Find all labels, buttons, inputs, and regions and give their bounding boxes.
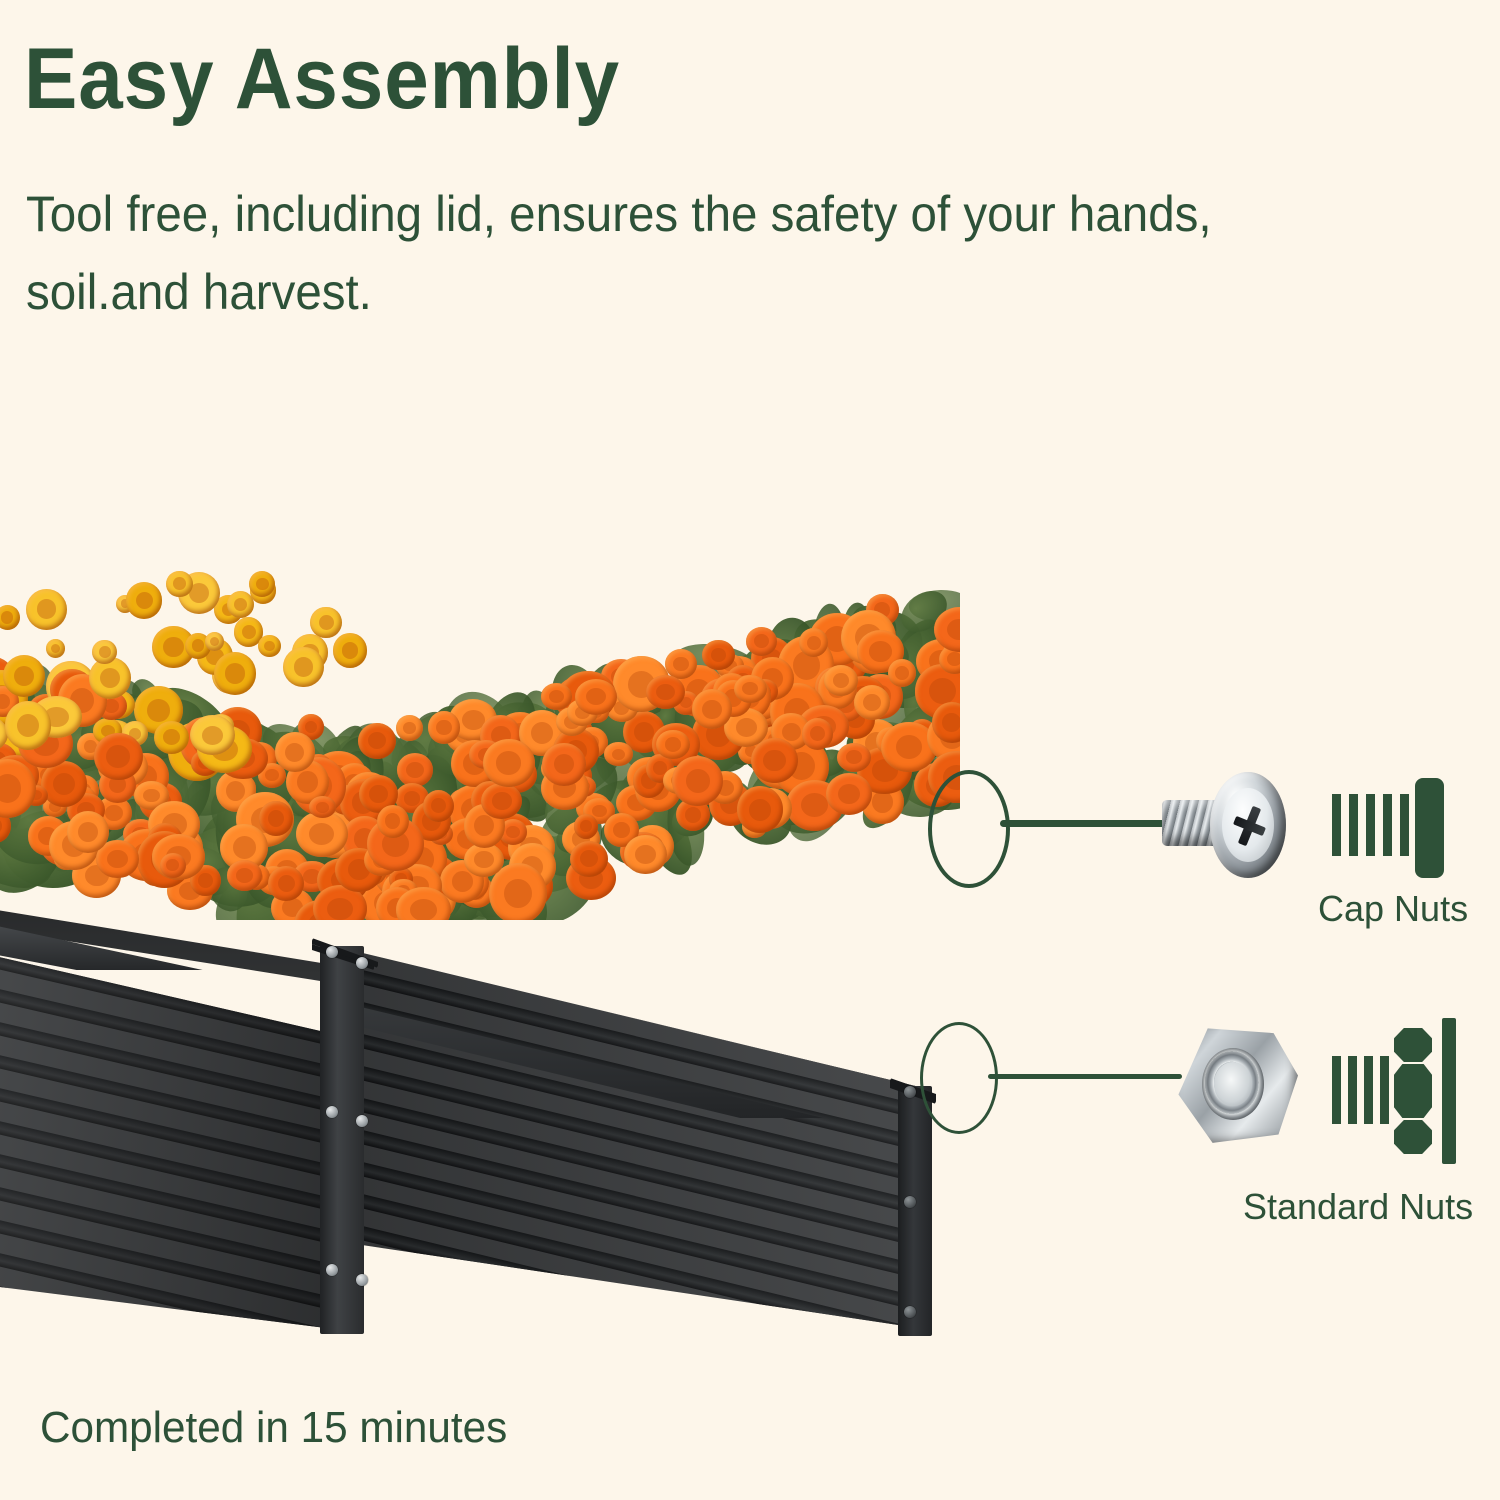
callout-ring-standard-nuts	[920, 1022, 998, 1134]
marigold-bloom	[483, 739, 535, 787]
planter-left-panel	[0, 948, 342, 1330]
marigold-bloom	[854, 685, 890, 720]
completion-time-caption: Completed in 15 minutes	[40, 1403, 507, 1453]
raised-garden-bed-illustration	[0, 560, 990, 1340]
marigold-bloom	[824, 665, 858, 696]
marigold-bloom	[575, 679, 617, 715]
corner-screw	[904, 1306, 916, 1318]
marigold-bloom	[5, 701, 51, 749]
metal-planter-box	[0, 860, 970, 1330]
marigold-bloom	[542, 743, 585, 786]
corner-screw	[356, 957, 368, 969]
corner-screw	[904, 1086, 916, 1098]
marigold-bloom	[214, 652, 257, 695]
marigold-bloom	[702, 640, 734, 670]
cap-nuts-label: Cap Nuts	[1318, 888, 1468, 930]
marigold-bloom	[396, 715, 423, 741]
marigold-bloom	[275, 732, 315, 771]
marigold-bloom	[92, 640, 117, 665]
infographic-canvas: Easy Assembly Tool free, including lid, …	[0, 0, 1500, 1500]
bolt-flange-head	[1210, 772, 1286, 878]
marigold-bloom	[734, 675, 767, 703]
marigold-bloom	[94, 733, 143, 780]
cap-nut-bolt-photo	[1162, 772, 1286, 878]
cap-nuts-glyph-icon	[1332, 778, 1444, 878]
marigold-bloom	[837, 743, 871, 772]
callout-line-standard-nuts	[988, 1074, 1182, 1079]
marigold-bloom	[358, 723, 396, 759]
marigold-bloom	[259, 801, 293, 837]
marigold-bloom	[89, 657, 131, 699]
corner-screw	[326, 946, 338, 958]
marigold-bloom	[333, 633, 368, 668]
marigold-bloom	[397, 753, 433, 787]
marigold-bloom	[656, 730, 690, 760]
marigold-bloom	[692, 689, 732, 729]
marigold-bloom	[888, 659, 917, 687]
marigold-bloom	[377, 805, 409, 838]
marigold-bloom	[802, 718, 833, 749]
marigold-bloom	[26, 589, 67, 630]
marigold-bloom	[227, 591, 254, 618]
marigold-bloom	[428, 711, 460, 743]
corner-screw	[904, 1196, 916, 1208]
planter-right-panel	[342, 860, 932, 1330]
corner-screw	[326, 1264, 338, 1276]
page-subtitle: Tool free, including lid, ensures the sa…	[26, 176, 1299, 331]
marigold-bloom	[541, 683, 572, 709]
corrugation-rib	[0, 1235, 342, 1330]
callout-line-cap-nuts	[1000, 820, 1176, 827]
standard-hex-nut-photo	[1176, 1026, 1298, 1144]
marigold-bloom	[574, 814, 598, 838]
marigold-bloom	[258, 635, 281, 658]
marigold-bloom	[646, 675, 685, 709]
marigold-bloom	[46, 639, 65, 658]
marigold-bloom	[423, 790, 454, 822]
standard-nuts-glyph-icon	[1332, 1018, 1456, 1164]
corner-screw	[356, 1274, 368, 1286]
marigold-bloom	[283, 647, 324, 688]
callout-ring-cap-nuts	[928, 770, 1010, 888]
hex-nut-threaded-hole	[1202, 1048, 1264, 1120]
corner-screw	[356, 1115, 368, 1127]
marigold-bloom	[154, 721, 189, 754]
phillips-drive-icon	[1236, 804, 1262, 848]
marigold-bloom	[310, 607, 341, 638]
marigold-bloom	[166, 571, 193, 598]
corner-screw	[326, 1106, 338, 1118]
marigold-bloom	[205, 632, 224, 651]
marigold-bloom	[0, 605, 20, 630]
marigold-bloom	[126, 582, 162, 618]
marigold-bloom	[826, 773, 872, 815]
planter-right-corner-post	[898, 1086, 932, 1336]
marigold-bloom	[481, 783, 522, 819]
page-title: Easy Assembly	[24, 36, 620, 122]
standard-nuts-label: Standard Nuts	[1243, 1186, 1473, 1228]
marigold-bloom	[751, 738, 798, 784]
